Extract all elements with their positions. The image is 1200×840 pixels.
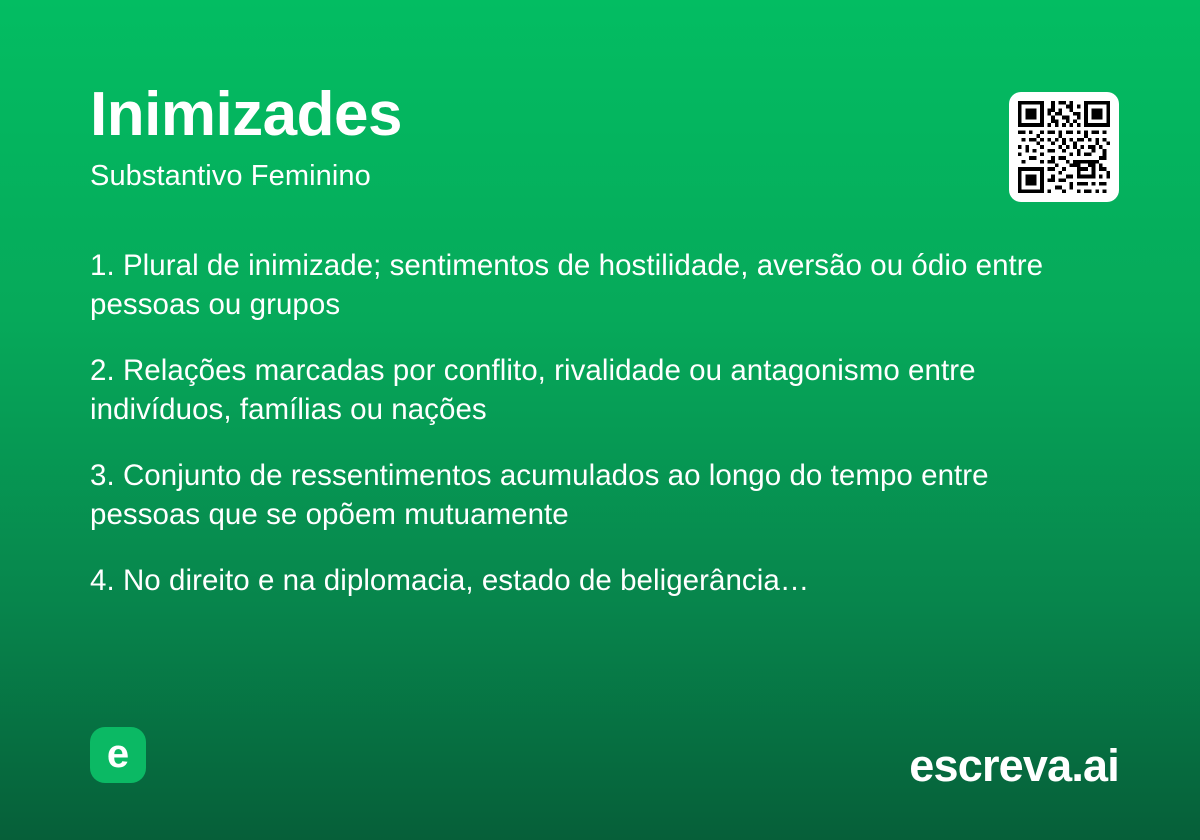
definition-item: 3. Conjunto de ressentimentos acumulados… xyxy=(90,456,1090,534)
page-title: Inimizades xyxy=(90,84,940,146)
brand-wordmark: escreva.ai xyxy=(909,743,1119,788)
qr-code[interactable] xyxy=(1009,92,1119,202)
definition-item: 1. Plural de inimizade; sentimentos de h… xyxy=(90,246,1090,324)
logo-letter: e xyxy=(107,734,129,774)
qr-code-icon xyxy=(1018,101,1110,193)
dictionary-card: Inimizades Substantivo Feminino xyxy=(0,0,1200,840)
escreva-logo-icon: e xyxy=(90,727,146,783)
card-footer: e escreva.ai xyxy=(0,700,1200,840)
card-header: Inimizades Substantivo Feminino xyxy=(90,84,940,193)
definition-item: 4. No direito e na diplomacia, estado de… xyxy=(90,561,1090,600)
definitions-list: 1. Plural de inimizade; sentimentos de h… xyxy=(90,246,1090,600)
definition-item: 2. Relações marcadas por conflito, rival… xyxy=(90,351,1090,429)
word-class-label: Substantivo Feminino xyxy=(90,160,940,193)
